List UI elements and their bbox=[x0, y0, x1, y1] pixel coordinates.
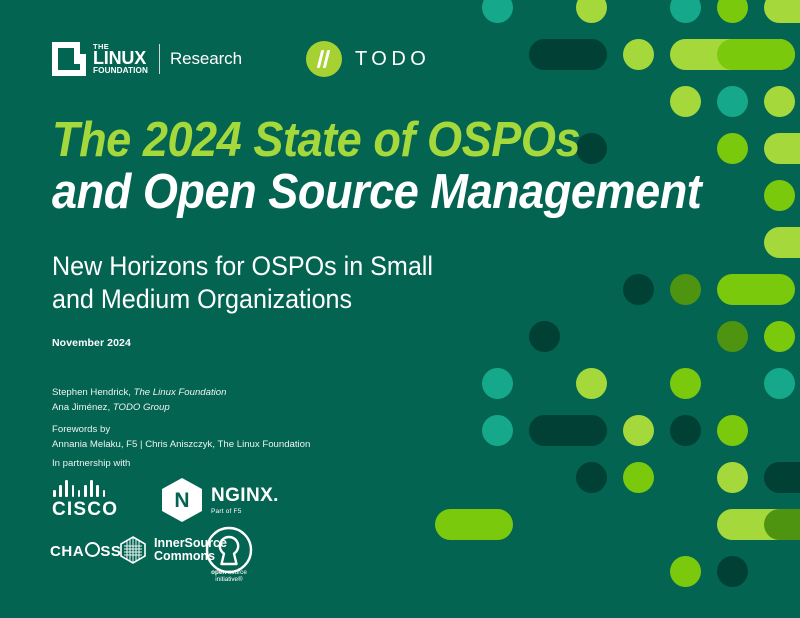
foreword-person-2-affiliation: The Linux Foundation bbox=[218, 439, 311, 450]
todo-slashes-icon bbox=[306, 41, 342, 77]
publication-date: November 2024 bbox=[52, 337, 131, 349]
report-title: The 2024 State of OSPOs and Open Source … bbox=[52, 114, 712, 218]
osi-wordmark-open: open bbox=[211, 569, 228, 576]
author-row: Ana Jiménez, TODO Group bbox=[52, 401, 226, 416]
osi-wordmark-initiative: initiative® bbox=[215, 575, 243, 583]
forewords-label: Forewords by bbox=[52, 423, 310, 438]
foreword-person-1-affiliation: F5 bbox=[126, 439, 137, 450]
cisco-wordmark: CISCO bbox=[52, 500, 118, 519]
todo-group-logo: TODO bbox=[306, 41, 430, 77]
cisco-bars-icon bbox=[52, 480, 118, 497]
report-cover: THE LINUX FOUNDATION Research TODO The 2… bbox=[0, 0, 800, 618]
nginx-sub-label: Part of F5 bbox=[211, 508, 279, 515]
author-affiliation: The Linux Foundation bbox=[134, 387, 227, 398]
chaoss-logo: CHASS bbox=[50, 542, 122, 560]
foreword-divider: | bbox=[137, 439, 145, 450]
linux-foundation-research-logo: THE LINUX FOUNDATION Research bbox=[52, 42, 242, 76]
osi-wordmark-source: source bbox=[228, 569, 247, 576]
author-list: Stephen Hendrick, The Linux Foundation A… bbox=[52, 386, 226, 415]
linux-foundation-mark-icon bbox=[52, 42, 86, 76]
chaoss-wordmark-a: CHA bbox=[50, 543, 84, 560]
forewords-block: Forewords by Annania Melaku, F5 | Chris … bbox=[52, 423, 310, 452]
lf-research-label: Research bbox=[170, 49, 242, 69]
nginx-hex-letter: N bbox=[162, 478, 202, 522]
subtitle-line-1: New Horizons for OSPOs in Small bbox=[52, 250, 443, 283]
linux-foundation-wordmark: THE LINUX FOUNDATION bbox=[93, 43, 148, 76]
partner-logos: CISCO N NGINX. Part of F5 CHASS bbox=[46, 476, 306, 586]
nginx-logo: N NGINX. Part of F5 bbox=[162, 478, 279, 522]
innersource-hex-icon bbox=[119, 536, 147, 564]
subtitle-line-2: and Medium Organizations bbox=[52, 283, 443, 316]
forewords-people: Annania Melaku, F5 | Chris Aniszczyk, Th… bbox=[52, 438, 310, 453]
cover-content: THE LINUX FOUNDATION Research TODO The 2… bbox=[0, 0, 800, 618]
open-source-initiative-logo: open source initiative® bbox=[198, 522, 260, 584]
report-subtitle: New Horizons for OSPOs in Small and Medi… bbox=[52, 250, 443, 316]
cisco-logo: CISCO bbox=[52, 480, 118, 519]
todo-wordmark: TODO bbox=[355, 48, 430, 71]
nginx-hex-icon: N bbox=[162, 478, 202, 522]
author-name: Ana Jiménez bbox=[52, 402, 107, 413]
author-affiliation: TODO Group bbox=[113, 402, 170, 413]
title-line-1: The 2024 State of OSPOs bbox=[52, 114, 659, 166]
logo-row: THE LINUX FOUNDATION Research TODO bbox=[52, 36, 430, 82]
foreword-person-1-name: Annania Melaku bbox=[52, 439, 121, 450]
title-line-2: and Open Source Management bbox=[52, 166, 659, 218]
chaoss-ring-icon bbox=[85, 542, 100, 557]
foreword-person-2-name: Chris Aniszczyk bbox=[145, 439, 212, 450]
svg-text:open source: open source bbox=[211, 569, 247, 576]
osi-keyhole-icon: open source initiative® bbox=[198, 522, 260, 584]
logo-divider bbox=[159, 44, 160, 74]
author-name: Stephen Hendrick bbox=[52, 387, 128, 398]
author-row: Stephen Hendrick, The Linux Foundation bbox=[52, 386, 226, 401]
nginx-wordmark: NGINX. bbox=[211, 486, 279, 505]
lf-linux-label: LINUX bbox=[93, 50, 148, 67]
lf-foundation-label: FOUNDATION bbox=[93, 67, 148, 75]
partnership-label: In partnership with bbox=[52, 458, 130, 469]
